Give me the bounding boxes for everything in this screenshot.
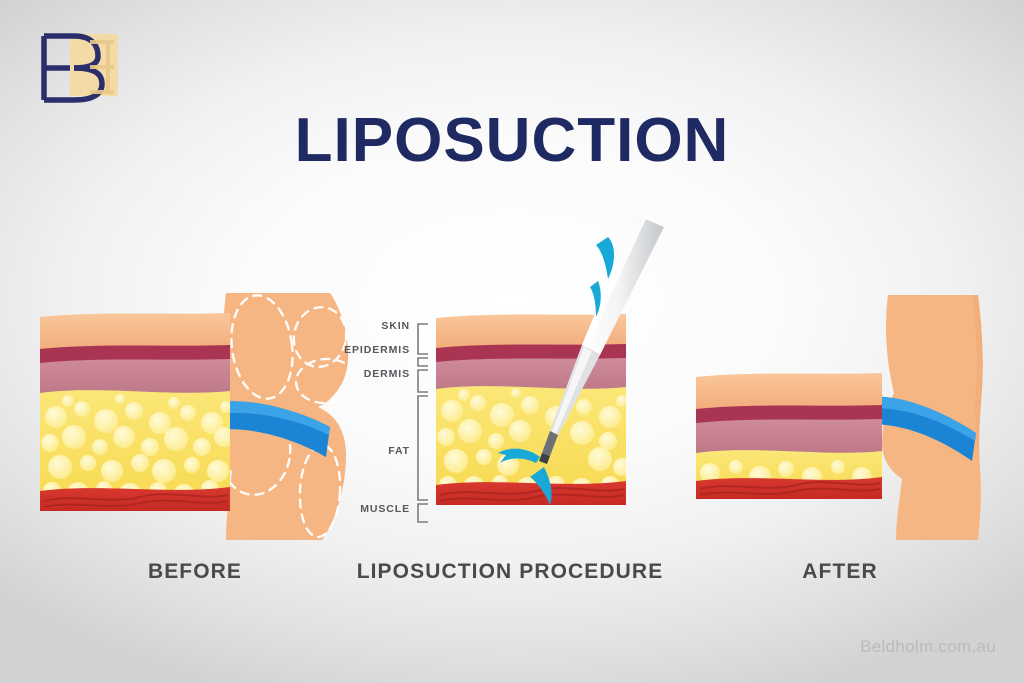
beldholm-logo[interactable] [24, 28, 134, 108]
bracket-skin [418, 324, 428, 354]
layer-label-muscle: MUSCLE [335, 503, 410, 515]
infographic-canvas: LIPOSUCTION [0, 0, 1024, 683]
before-illustration [30, 285, 370, 540]
suction-arrow-icon-upper [596, 237, 614, 279]
caption-after: AFTER [740, 560, 940, 584]
skin-cross-section-after [696, 373, 883, 499]
page-title: LIPOSUCTION [0, 110, 1024, 172]
bracket-dermis [418, 370, 428, 392]
caption-before: BEFORE [95, 560, 295, 584]
layer-label-dermis: DERMIS [340, 368, 410, 380]
caption-procedure: LIPOSUCTION PROCEDURE [330, 560, 690, 584]
bracket-epidermis [418, 358, 428, 366]
watermark: Beldholm.com.au [860, 637, 996, 657]
layer-label-skin: SKIN [345, 320, 410, 332]
bracket-muscle [418, 504, 428, 522]
bracket-fat [418, 396, 428, 500]
procedure-illustration [432, 205, 682, 535]
after-illustration [690, 285, 1010, 540]
layer-label-fat: FAT [350, 445, 410, 457]
skin-cross-section-before [40, 313, 234, 511]
layer-label-epidermis: EPIDERMIS [335, 344, 410, 356]
